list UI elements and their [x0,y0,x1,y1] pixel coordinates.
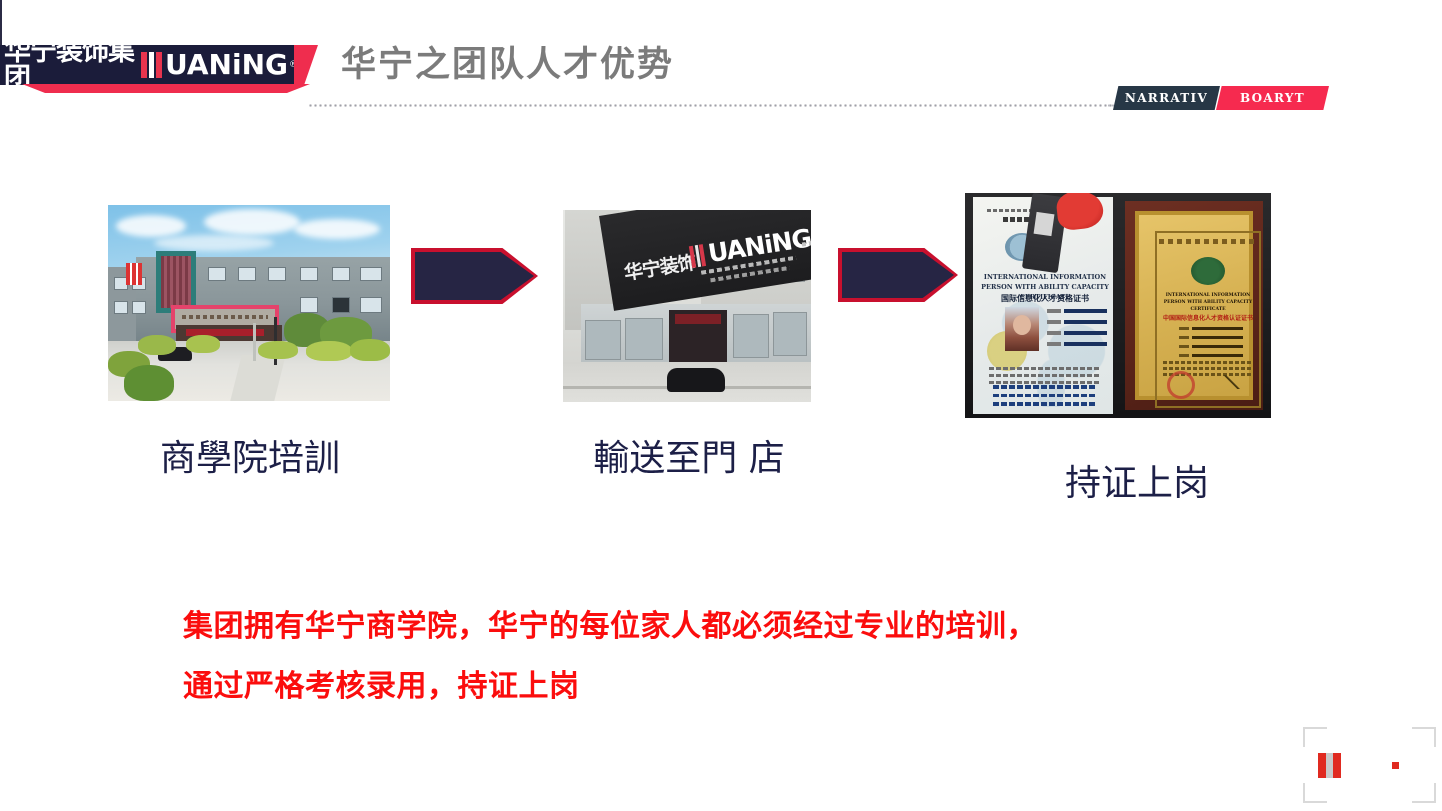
cert-body-line [989,374,1101,377]
portrait-face [1013,315,1031,335]
logo-chinese-text: 华宁装饰集团 [4,38,136,92]
cert-field-row [1047,320,1107,324]
cloud-shape [294,219,380,239]
header-badges: NARRATIV BOARYT [1113,86,1329,110]
wooden-plaque-frame: INTERNATIONAL INFORMATION PERSON WITH AB… [1125,201,1263,410]
plaque-field-rows [1179,327,1243,363]
corner-bracket-bottom-left [1303,783,1327,803]
step-caption-3: 持证上岗 [1010,460,1264,508]
corner-frame [1303,727,1436,803]
window [132,301,146,314]
window [114,301,128,314]
cert-chinese-line [993,394,1097,398]
statement-block: 集团拥有华宁商学院，华宁的每位家人都必须经过专业的培训， 通过严格考核录用，持证… [183,597,1273,717]
cert-chinese-line [993,402,1097,406]
signboard-chinese-text: 华宁装饰 [622,248,697,286]
plaque-field-row [1179,345,1243,348]
cert-field-row [1047,342,1107,346]
cert-chinese-line [993,385,1097,389]
step-caption-2: 輸送至門 店 [575,435,803,483]
storefront-window [585,320,621,360]
logo-swoosh-shape [22,84,310,93]
entrance-banner [675,314,721,324]
cert-title-cn: 国际信息化人才资格证书 [981,293,1109,304]
window [360,267,382,281]
certificate-photo[interactable]: INTERNATIONAL INFORMATION PERSON WITH AB… [965,193,1271,418]
storefront-photo[interactable]: 华宁装饰 UANiNG [563,210,811,402]
window [300,297,318,313]
window [360,297,382,313]
slide-canvas: 华宁装饰集团 UANiNG ® 华宁之团队人才优势 NARRATIV BOARY… [0,0,1442,811]
shrub [258,341,298,359]
shrub [138,335,176,355]
header-dotted-divider [308,104,1126,107]
plaque-field-row [1179,336,1243,339]
rubber-stamp-label [1034,212,1055,236]
window [332,297,350,313]
square-dot-icon [1392,762,1399,769]
plaque-body-line [1163,361,1253,364]
cert-field-row [1047,309,1107,313]
corner-bracket-bottom-right [1412,783,1436,803]
window [332,267,350,281]
logo-band: 华宁装饰集团 UANiNG ® [0,45,298,85]
cloud-shape [154,235,274,251]
plaque-emblem-icon [1191,257,1225,285]
window [238,267,256,281]
plaque-header-line [1159,239,1257,244]
gold-plaque-panel: INTERNATIONAL INFORMATION PERSON WITH AB… [1135,211,1253,400]
plaque-red-seal-icon [1167,371,1195,399]
storefront-window [773,312,807,356]
window [300,267,318,281]
logo-latin-text: UANiNG [165,51,288,79]
shrub [306,341,352,361]
plaque-signature [1219,375,1245,389]
flag-banner-icon [126,263,142,285]
business-school-building-photo[interactable] [108,205,390,401]
canopy-sign-text [182,315,268,319]
shrub [124,365,174,401]
logo-tail-shape [294,45,318,85]
flow-arrow-2 [838,248,958,302]
window [268,267,286,281]
storefront-window [625,318,663,360]
pause-bars-icon [1318,753,1341,778]
corner-bracket-top-left [1303,727,1327,747]
plaque-field-row [1179,327,1243,330]
plaque-title-en: INTERNATIONAL INFORMATION PERSON WITH AB… [1159,293,1257,313]
h-monogram-bars-icon [689,244,706,268]
building-accent-panel [156,251,196,313]
flow-arrow-1 [411,248,538,304]
h-monogram-bars-icon [141,52,162,78]
plaque-title-cn: 中国国际信息化人才资格认证证书 [1159,313,1257,322]
cert-field-row [1047,331,1107,335]
parked-car [667,368,725,392]
cert-chinese-lines [993,385,1097,411]
plaque-field-row [1179,354,1243,357]
step-caption-1: 商學院培訓 [130,435,370,483]
badge-narrativ[interactable]: NARRATIV [1113,86,1220,110]
cert-body-line [989,367,1101,370]
window [208,267,226,281]
statement-line-2: 通过严格考核录用，持证上岗 [183,657,1273,717]
plaque-body-line [1163,367,1253,370]
badge-boaryt[interactable]: BOARYT [1216,86,1329,110]
statement-line-1: 集团拥有华宁商学院，华宁的每位家人都必须经过专业的培训， [183,597,1273,657]
cert-body-line [989,381,1101,384]
cloud-shape [204,209,300,235]
storefront-window [733,314,769,358]
cert-field-rows [1047,309,1107,353]
bollard [253,323,256,361]
shrub [350,339,390,361]
page-title: 华宁之团队人才优势 [341,44,674,86]
shrub [186,335,220,353]
cloud-shape [116,215,186,237]
corner-bracket-top-right [1412,727,1436,747]
